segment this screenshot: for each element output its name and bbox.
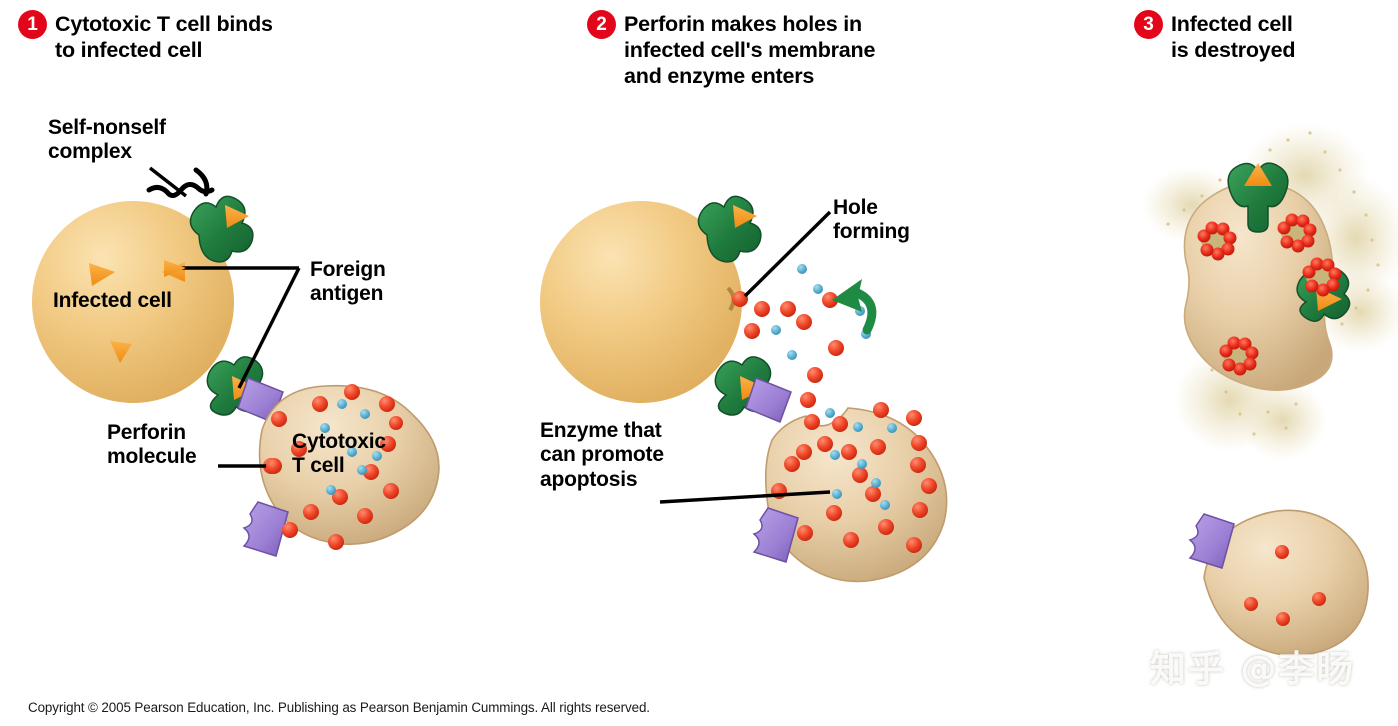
label-infected-cell: Infected cell — [53, 289, 172, 313]
panel-step-1: 1 Cytotoxic T cell binds to infected cel… — [0, 0, 540, 726]
label-cytotoxic-t-cell: Cytotoxic T cell — [292, 430, 386, 479]
label-foreign-antigen: Foreign antigen — [310, 258, 386, 307]
leader-foreign-antigen-lower — [239, 268, 299, 388]
label-self-nonself-complex: Self-nonself complex — [48, 116, 166, 165]
copyright-notice: Copyright © 2005 Pearson Education, Inc.… — [28, 700, 650, 715]
watermark: 知乎 @李旸 — [1150, 640, 1355, 692]
panel-3-artwork — [1120, 0, 1398, 726]
panel-step-2: 2 Perforin makes holes in infected cell'… — [540, 0, 1120, 726]
perforin-flow-arrow — [832, 279, 872, 330]
perforin-callout-dot — [266, 458, 282, 474]
mhc-tcr-binding — [715, 357, 791, 422]
panel-2-artwork — [540, 0, 1120, 726]
label-enzyme-apoptosis: Enzyme that can promote apoptosis — [540, 419, 664, 492]
figure-canvas: 1 Cytotoxic T cell binds to infected cel… — [0, 0, 1398, 726]
tcr-receptor-lower — [244, 502, 288, 556]
leader-hole-forming — [745, 212, 830, 296]
panel-step-3: 3 Infected cell is destroyed — [1120, 0, 1398, 726]
label-hole-forming: Hole forming — [833, 196, 910, 245]
label-perforin-molecule: Perforin molecule — [107, 421, 196, 470]
panel-1-artwork — [0, 0, 540, 726]
